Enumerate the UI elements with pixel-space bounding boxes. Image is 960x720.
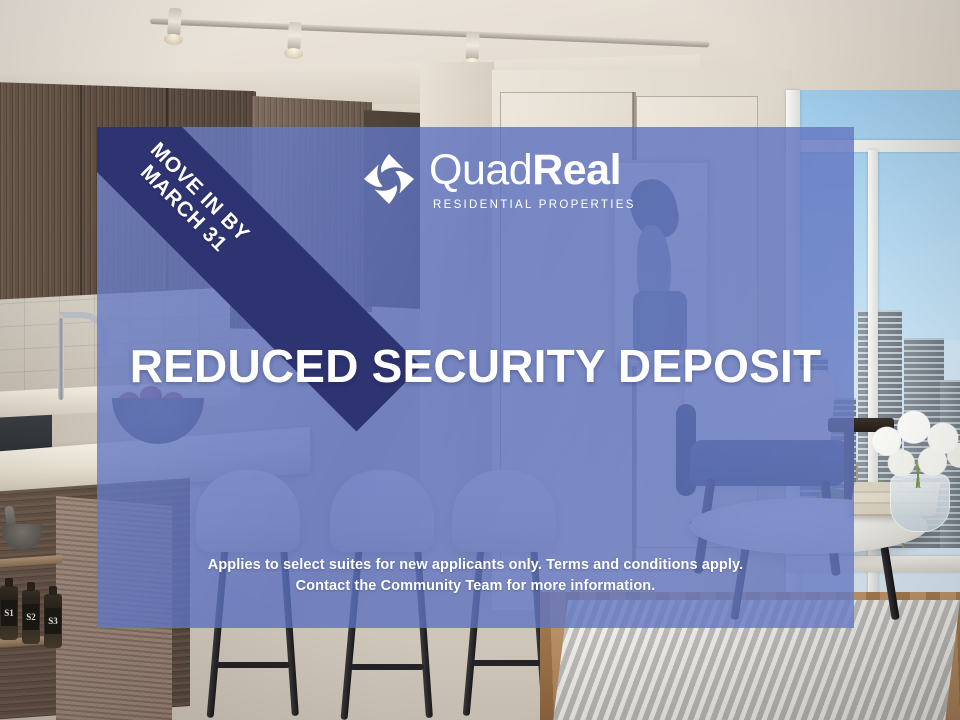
window-mullion bbox=[868, 150, 878, 650]
brand-tagline: RESIDENTIAL PROPERTIES bbox=[433, 199, 636, 211]
promo-headline: REDUCED SECURITY DEPOSIT bbox=[97, 339, 854, 393]
promo-banner-stage: S1 S2 S3 bbox=[0, 0, 960, 720]
track-light-spot bbox=[167, 8, 182, 39]
fine-print-line-1: Applies to select suites for new applica… bbox=[97, 555, 854, 576]
barstool-rung bbox=[350, 664, 424, 670]
shelf-bottle: S1 bbox=[0, 586, 18, 640]
fine-print-line-2: Contact the Community Team for more info… bbox=[97, 576, 854, 597]
bottle-label: S1 bbox=[1, 600, 17, 626]
promo-fine-print: Applies to select suites for new applica… bbox=[97, 555, 854, 597]
bottle-label: S3 bbox=[45, 608, 61, 634]
quadreal-diamond-pinwheel-icon bbox=[363, 153, 415, 205]
promo-overlay-panel: MOVE IN BY MARCH 31 QuadReal RESIDENTIAL… bbox=[97, 127, 854, 628]
barstool-rung bbox=[216, 662, 290, 668]
track-light-spot bbox=[287, 22, 302, 53]
white-tulips bbox=[868, 410, 960, 488]
brand-name-part1: Quad bbox=[429, 146, 532, 194]
barstool-rung bbox=[472, 660, 542, 666]
brand-name: QuadReal bbox=[429, 149, 636, 192]
track-light-spot bbox=[465, 32, 479, 62]
bottle-label: S2 bbox=[23, 604, 39, 630]
shelf-bottle: S2 bbox=[22, 590, 40, 644]
cabinet-seam bbox=[80, 85, 82, 323]
kitchen-faucet bbox=[58, 318, 64, 400]
brand-name-part2: Real bbox=[532, 146, 621, 194]
quadreal-wordmark: QuadReal RESIDENTIAL PROPERTIES bbox=[429, 149, 636, 211]
quadreal-logo-lockup: QuadReal RESIDENTIAL PROPERTIES bbox=[363, 149, 636, 211]
shelf-bottle: S3 bbox=[44, 594, 62, 648]
